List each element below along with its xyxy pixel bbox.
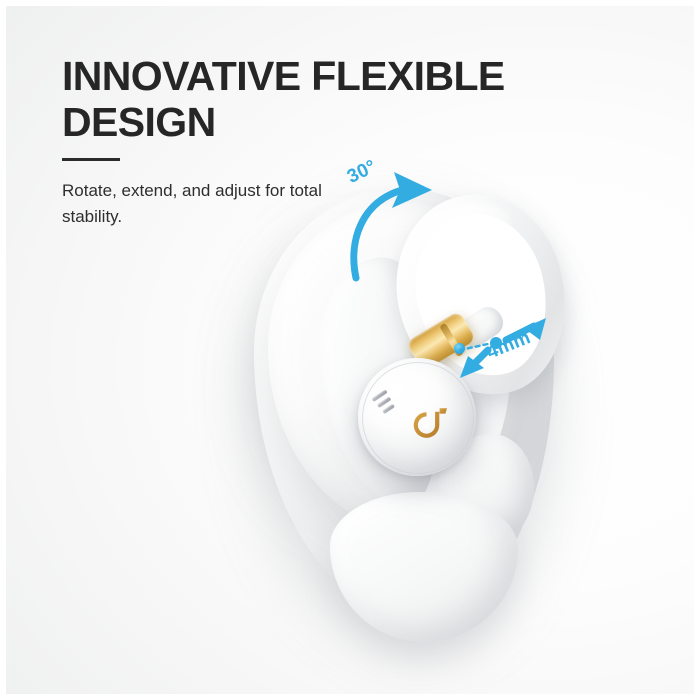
page-title: INNOVATIVE FLEXIBLE DESIGN bbox=[62, 54, 582, 146]
extension-annotation bbox=[458, 306, 568, 421]
ear-lobe bbox=[330, 492, 518, 642]
curved-arrow-icon bbox=[354, 172, 432, 278]
soundcore-logo bbox=[410, 398, 454, 438]
subtitle: Rotate, extend, and adjust for total sta… bbox=[62, 178, 362, 231]
title-divider-rule bbox=[62, 158, 120, 161]
poster-plate: 30° 4mm bbox=[6, 6, 694, 694]
product-feature-poster: 30° 4mm bbox=[0, 0, 700, 700]
